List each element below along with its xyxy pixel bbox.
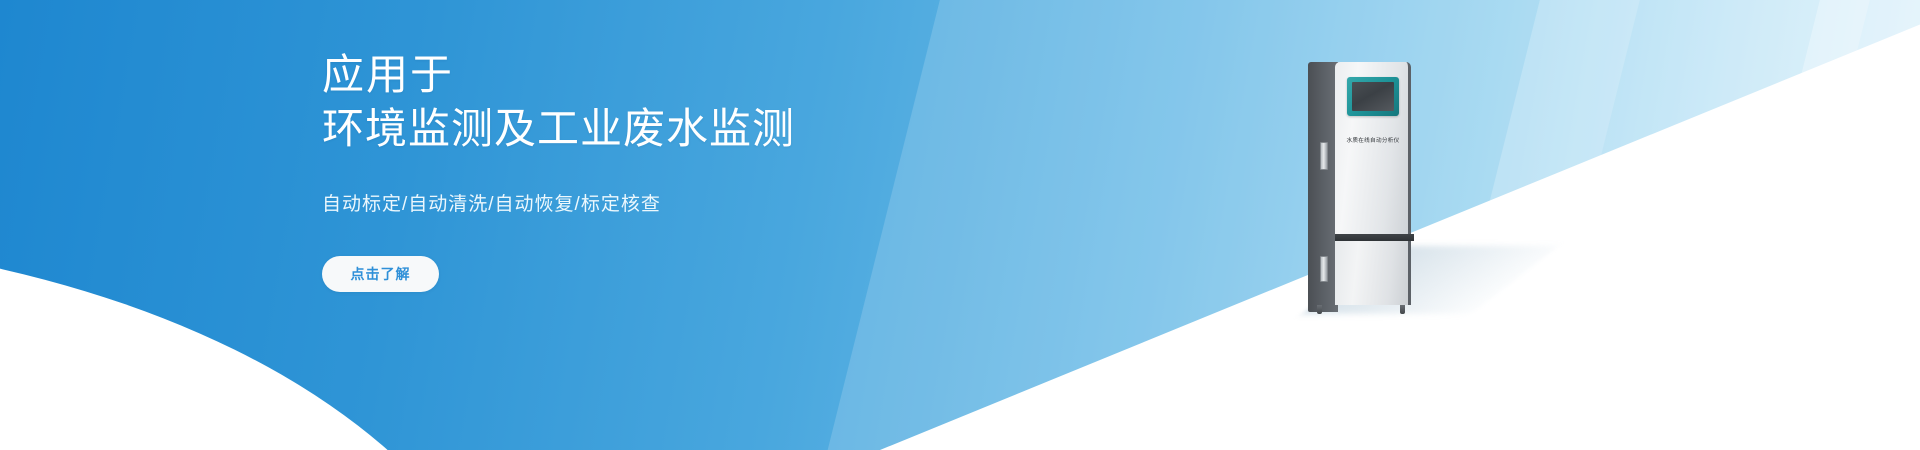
cabinet-handle-lower [1320, 256, 1328, 282]
hero-banner: 应用于 环境监测及工业废水监测 自动标定/自动清洗/自动恢复/标定核查 点击了解… [0, 0, 1920, 450]
cabinet-foot-left [1317, 305, 1322, 314]
display-bezel [1347, 77, 1399, 116]
subtitle: 自动标定/自动清洗/自动恢复/标定核查 [322, 192, 962, 218]
headline-line-1: 应用于 [322, 48, 962, 102]
hero-content: 应用于 环境监测及工业废水监测 自动标定/自动清洗/自动恢复/标定核查 点击了解 [322, 48, 962, 292]
cabinet-seam [1335, 234, 1414, 241]
learn-more-button[interactable]: 点击了解 [322, 256, 439, 292]
cabinet-foot-right [1400, 305, 1405, 314]
water-quality-analyzer-image: 水质在线自动分析仪 [1308, 62, 1418, 312]
headline: 应用于 环境监测及工业废水监测 [322, 48, 962, 156]
display-screen [1352, 82, 1394, 111]
device-product-label: 水质在线自动分析仪 [1335, 136, 1411, 144]
headline-line-2: 环境监测及工业废水监测 [322, 102, 962, 156]
cabinet-handle-upper [1320, 142, 1328, 170]
cabinet-lower-door [1335, 241, 1411, 305]
